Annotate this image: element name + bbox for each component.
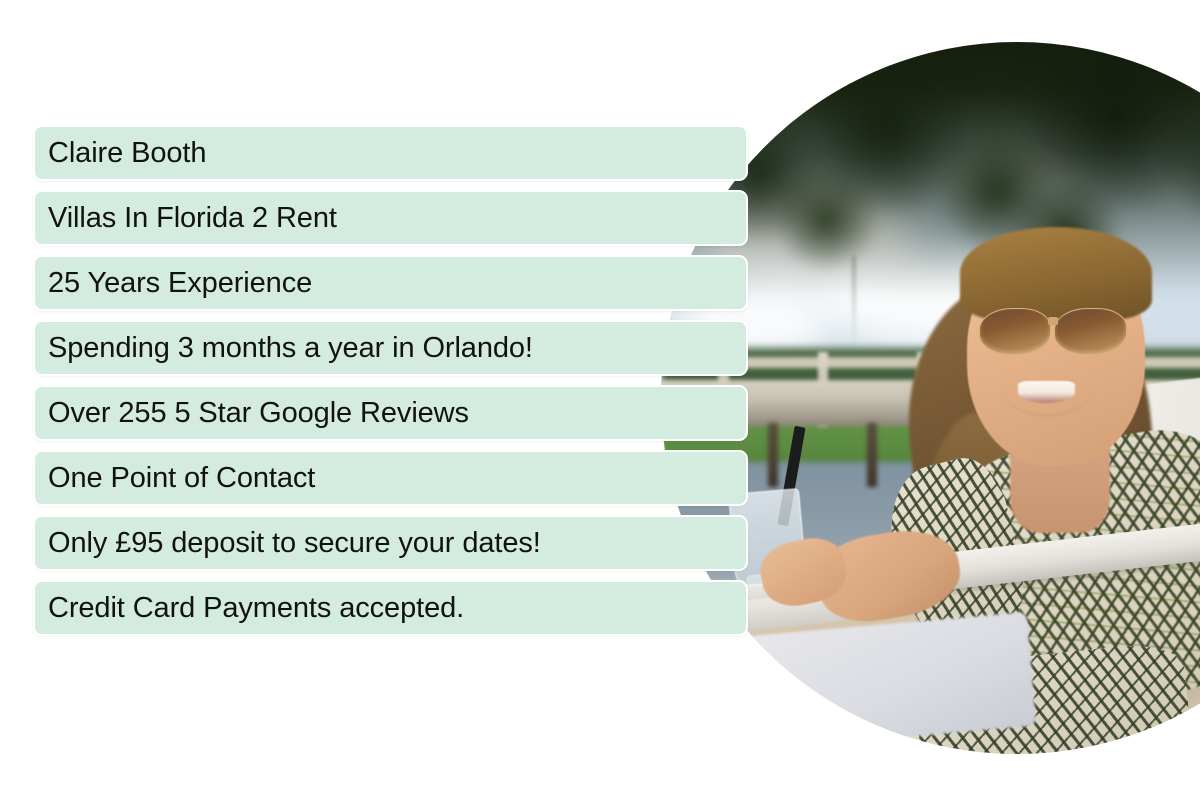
highlight-label: Spending 3 months a year in Orlando!	[48, 334, 533, 363]
highlight-list: Claire Booth Villas In Florida 2 Rent 25…	[33, 125, 748, 636]
list-item: Credit Card Payments accepted.	[33, 580, 748, 636]
list-item: Over 255 5 Star Google Reviews	[33, 385, 748, 441]
list-item: Only £95 deposit to secure your dates!	[33, 515, 748, 571]
highlight-label: Over 255 5 Star Google Reviews	[48, 399, 469, 428]
poster-canvas: Claire Booth Villas In Florida 2 Rent 25…	[0, 0, 1200, 800]
highlight-label: 25 Years Experience	[48, 269, 312, 298]
list-item: Spending 3 months a year in Orlando!	[33, 320, 748, 376]
list-item: Claire Booth	[33, 125, 748, 181]
list-item: Villas In Florida 2 Rent	[33, 190, 748, 246]
highlight-label: Villas In Florida 2 Rent	[48, 204, 337, 233]
highlight-label: Claire Booth	[48, 139, 206, 168]
highlight-label: Only £95 deposit to secure your dates!	[48, 529, 541, 558]
list-item: One Point of Contact	[33, 450, 748, 506]
list-item: 25 Years Experience	[33, 255, 748, 311]
highlight-label: One Point of Contact	[48, 464, 315, 493]
highlight-label: Credit Card Payments accepted.	[48, 594, 464, 623]
